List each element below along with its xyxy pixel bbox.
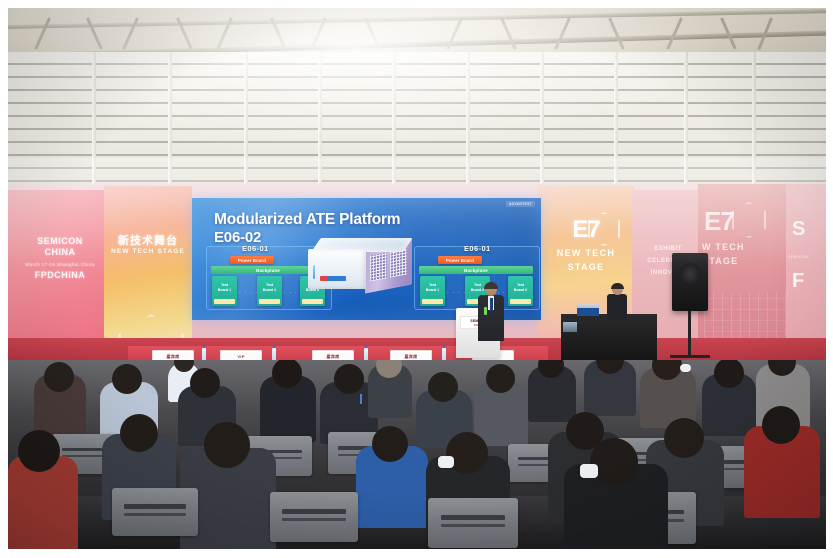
chassis-brand-badge (320, 276, 346, 281)
e7-right-line1: W TECH (702, 242, 786, 252)
left-test-board-2: TestBoard 2 (257, 276, 282, 306)
presenter-lanyard-badge (484, 307, 487, 315)
presenter (478, 283, 504, 341)
far-letter-s: S (792, 218, 805, 241)
left-ellipsis-1: · · · · (239, 290, 258, 296)
chair (270, 492, 358, 542)
attendee-head (204, 422, 250, 468)
louvered-hall-wall (8, 52, 826, 204)
chassis-led-strip (313, 265, 315, 279)
face-mask (580, 464, 598, 478)
right-ellipsis-1: · · · · (447, 290, 466, 296)
right-test-board-6: TestBoard 6 (508, 276, 533, 306)
pa-loudspeaker (672, 253, 708, 311)
attendee-head (590, 438, 638, 486)
photo-frame: SEMICON CHINA March 17-19 Shanghai China… (0, 0, 833, 558)
left-test-board-1: TestBoard 1 (212, 276, 237, 306)
nts-chinese: 新技术舞台 (104, 232, 192, 248)
attendee-head (112, 364, 142, 394)
far-tiny-text: SEMICON (788, 254, 809, 259)
semicon-small: March 17-19 Shanghai China (18, 262, 102, 268)
semicon-line2: CHINA (18, 247, 102, 258)
attendee-head (446, 432, 488, 474)
attendee-head (372, 426, 408, 462)
attendee-head (664, 418, 704, 458)
hexagon-icon-right (732, 202, 766, 238)
left-tb2-label: TestBoard 2 (257, 283, 282, 293)
laptop (577, 304, 599, 316)
banner-new-tech-stage: 新技术舞台 NEW TECH STAGE (104, 186, 192, 354)
attendee-head (428, 372, 458, 402)
keyword-1: EXHIBIT (632, 246, 704, 252)
left-group-label: E06-01 (242, 244, 269, 253)
ate-chassis-render (308, 238, 412, 290)
attendee-head (44, 362, 74, 392)
left-power-board: Power Board (230, 256, 274, 264)
right-group-label: E06-01 (464, 244, 491, 253)
banner-e7-stage-right: E7 W TECH STAGE (698, 184, 790, 364)
e7-code-right: E7 (704, 206, 734, 237)
av-control-desk (561, 314, 657, 360)
speaker-cone (679, 263, 701, 285)
right-power-board: Power Board (438, 256, 482, 264)
e7-right-line2: STAGE (702, 256, 786, 266)
far-letter-f: F (792, 270, 804, 293)
conference-scene: SEMICON CHINA March 17-19 Shanghai China… (8, 8, 826, 549)
right-tb6-label: TestBoard 6 (508, 283, 533, 293)
left-tb1-label: TestBoard 1 (212, 283, 237, 293)
chair (112, 488, 198, 536)
face-mask (438, 456, 454, 468)
av-technician (607, 284, 627, 320)
fpdchina-line: FPDCHINA (18, 270, 102, 281)
semicon-line1: SEMICON (18, 236, 102, 247)
nts-english: NEW TECH STAGE (104, 248, 192, 255)
attendee-head (18, 430, 60, 472)
e7-line2: STAGE (538, 262, 634, 272)
speaker-stand-legs (670, 355, 710, 358)
chair (428, 498, 518, 548)
e7-code: E7 (538, 216, 634, 244)
slide-corner-logo: ADVANTEST (506, 201, 535, 207)
right-tb1-label: TestBoard 1 (420, 283, 445, 293)
audience-area (8, 360, 826, 549)
banner-semicon-china: SEMICON CHINA March 17-19 Shanghai China… (8, 190, 108, 350)
attendee-head (486, 364, 515, 393)
monitor (563, 322, 577, 332)
e7-line1: NEW TECH (538, 248, 634, 258)
right-test-board-1: TestBoard 1 (420, 276, 445, 306)
speaker-stand-pole (688, 311, 691, 357)
chassis-front-panel (308, 249, 366, 289)
right-backplane: Backplane (419, 266, 533, 274)
slide-title-text: Modularized ATE Platform (214, 211, 400, 228)
attendee-head (334, 364, 364, 394)
attendee-head (190, 368, 220, 398)
attendee-head (762, 406, 800, 444)
attendee-head (120, 414, 158, 452)
